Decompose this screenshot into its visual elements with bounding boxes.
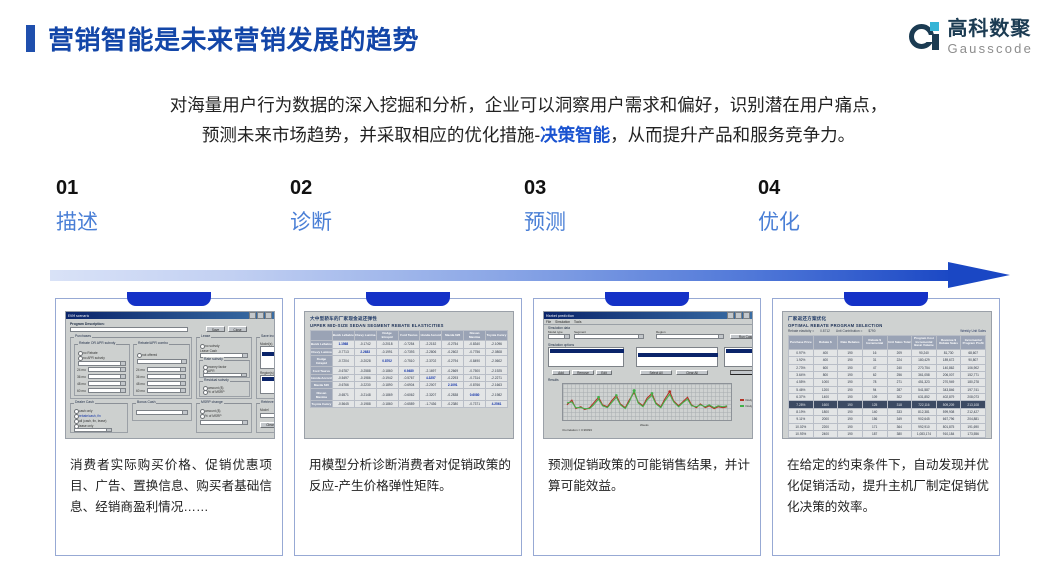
cell: 1,173,409: [912, 438, 937, 439]
cell: 4.55%: [789, 379, 814, 386]
radio-label: amount ($): [205, 409, 220, 413]
cell: 190: [838, 438, 863, 439]
row-header: Mazda 626: [311, 382, 333, 389]
elasticity-table: Buick LeSabre Chevy Lumina Dodge Intrepi…: [310, 330, 508, 408]
select-combo-36[interactable]: [147, 374, 186, 379]
arrow-shaft: [50, 270, 955, 281]
list-selected-item: [726, 349, 754, 353]
group-bonus-cash: Bonus Cash: [132, 403, 192, 421]
card-tab: [366, 292, 450, 306]
cell: 4.3257: [420, 374, 442, 381]
radio-label: cash only: [79, 409, 92, 413]
cell: 2.2683: [354, 348, 376, 355]
list-models[interactable]: [260, 346, 275, 369]
list-regions[interactable]: [260, 375, 275, 394]
clear-button[interactable]: Clear: [260, 422, 275, 428]
col-header: Purchase Price: [789, 336, 814, 350]
cell: 302: [887, 394, 912, 401]
step-number: 02: [290, 176, 524, 200]
cell: 173,556: [961, 430, 986, 437]
legend-swatch: [740, 405, 744, 408]
label-program-description: Program Description:: [70, 322, 105, 326]
cell: 812,381: [912, 408, 937, 415]
run-case-button[interactable]: Run Case: [730, 334, 753, 339]
cell: 204,881: [961, 416, 986, 423]
cell: -0.7371: [464, 400, 486, 407]
table-row: Nissan Maxima -0.6571 -0.2148 -0.1869 -0…: [311, 389, 508, 400]
cell: -0.7254: [398, 341, 420, 348]
cell: -2.0602: [486, 355, 508, 366]
select-bonus-cash[interactable]: [136, 410, 188, 415]
cell: 9.11%: [789, 416, 814, 423]
cell: 2000: [813, 416, 838, 423]
cell: 190: [838, 379, 863, 386]
cell: 667,796: [936, 416, 961, 423]
select-rebate-amount[interactable]: [78, 361, 126, 366]
chart-footnote: rCorrelation = 0.96093: [562, 428, 592, 432]
step-01: 01 描述: [56, 176, 290, 238]
cell: -2.2007: [420, 382, 442, 389]
cell: -0.7314: [464, 374, 486, 381]
radio-label: not offered: [142, 353, 157, 357]
select-model-type[interactable]: [548, 334, 570, 339]
cell: -0.7500: [464, 367, 486, 374]
menu-file[interactable]: File: [546, 320, 551, 324]
step-label: 预测: [524, 208, 758, 238]
cell: 451,323: [912, 379, 937, 386]
table-row: 6.37%1400190109302631,852402,879208,073: [789, 394, 986, 401]
card-screenshot-optimal: 厂家返还方案优化 OPTIMAL REBATE PROGRAM SELECTIO…: [782, 311, 992, 439]
group-title: Retrieve incentives: [260, 400, 275, 404]
select-region[interactable]: [656, 334, 724, 339]
table-row: Honda Accord -0.5497 -0.1986 -0.1942 -0.…: [311, 374, 508, 381]
title-accent-bar: [26, 25, 35, 52]
col-header: Program Cost Incremental Basic Volume: [912, 336, 937, 350]
table-header-row: Purchase Price Rebate $ Rate Rebates Reb…: [789, 336, 986, 350]
subtitle-elasticity-label: Rebate elasticity =: [788, 329, 814, 333]
cell: -2.1096: [486, 341, 508, 348]
intro-line-2-before: 预测未来市场趋势，并采取相应的优化措施-: [202, 125, 540, 145]
cell: -2.2806: [420, 348, 442, 355]
cell: 68,607: [961, 349, 986, 356]
list-selected-item: [262, 352, 276, 356]
chart-series: [563, 384, 731, 420]
cell: -0.2588: [354, 367, 376, 374]
window-buttons: [249, 312, 272, 319]
cell: 2.73%: [789, 364, 814, 371]
cell: 187: [862, 430, 887, 437]
cell: -0.7713: [332, 348, 354, 355]
cell: 349: [887, 416, 912, 423]
cell: -0.8490: [464, 355, 486, 366]
list-models[interactable]: [636, 347, 718, 367]
cell: -0.2230: [354, 382, 376, 389]
cell: 4.2561: [486, 400, 508, 407]
cell: 10.93%: [789, 430, 814, 437]
group-lease: Lease no subvdy Lease Cash Rate subvdy m…: [196, 337, 252, 399]
page-title: 营销智能是未来营销发展的趋势: [26, 20, 419, 57]
row-header: Nissan Maxima: [311, 389, 333, 400]
cell: 801,875: [936, 423, 961, 430]
cell: 3.64%: [789, 371, 814, 378]
term-label: 60 mo: [77, 389, 86, 393]
cell: 380: [887, 430, 912, 437]
list-metrics[interactable]: [724, 347, 753, 367]
group-title: Lease: [200, 334, 211, 338]
cell: 631,852: [912, 394, 937, 401]
menu-simulation[interactable]: Simulation: [555, 320, 570, 324]
select-retrieve-model[interactable]: [260, 413, 275, 418]
cell: -0.2028: [354, 355, 376, 366]
step-02: 02 诊断: [290, 176, 524, 238]
cell: 90,240: [912, 349, 937, 356]
table-row: Buick LeSabre 1.1568 -0.1742 -0.2018 -0.…: [311, 341, 508, 348]
cell: -0.1860: [376, 367, 398, 374]
radio-label: no APR subvdy: [83, 356, 105, 360]
cell: 11.84%: [789, 438, 814, 439]
cell: 208,073: [961, 394, 986, 401]
cell: 5.46%: [789, 386, 814, 393]
card-caption: 在给定的约束条件下，自动发现并优化促销活动，提升主机厂制定促销优化决策的效率。: [787, 455, 989, 518]
list-selected-item: [262, 377, 276, 381]
remove-button[interactable]: Remove: [572, 370, 594, 375]
cell: 106,902: [961, 364, 986, 371]
cell: -2.1925: [486, 367, 508, 374]
intro-highlight: 决策智能: [540, 125, 610, 145]
cell: 1000: [813, 379, 838, 386]
table-row: 1.92%40019031224180,429189,67290,807: [789, 357, 986, 364]
radio-label: no subvdy: [205, 344, 220, 348]
card-screenshot-elasticity: 大中型轿车的厂家现金返还弹性 UPPER MID-SIZE SEDAN SEGM…: [304, 311, 514, 439]
col-header: Buick LeSabre: [332, 331, 354, 341]
cell: 271: [887, 379, 912, 386]
optimal-rebate-table: Purchase Price Rebate $ Rate Rebates Reb…: [788, 335, 986, 439]
cell: -0.1742: [354, 341, 376, 348]
select-term-24[interactable]: [88, 367, 126, 372]
group-save-incentives: Save incentives Model(s) Select All Clea…: [256, 337, 275, 399]
cell: 1600: [813, 401, 838, 408]
step-headings: 01 描述 02 诊断 03 预测 04 优化: [56, 176, 996, 238]
step-number: 01: [56, 176, 290, 200]
cell: -0.5645: [332, 400, 354, 407]
select-term-36[interactable]: [88, 374, 126, 379]
cell: -0.1991: [376, 348, 398, 355]
cell: 0.6080: [464, 389, 486, 400]
input-program-description[interactable]: [70, 327, 188, 332]
cell: 109: [862, 394, 887, 401]
cell: 722,116: [912, 401, 937, 408]
legend-label: Dodge Dakota actual: [746, 404, 754, 408]
table-title-en: OPTIMAL REBATE PROGRAM SELECTION: [788, 323, 986, 328]
cell: -2.3702: [420, 355, 442, 366]
subtitle-elasticity-value: 0.8712: [820, 329, 830, 333]
cell: 8.19%: [789, 408, 814, 415]
col-header: Honda Accord: [420, 331, 442, 341]
row-header: Ford Taurus: [311, 367, 333, 374]
col-header: Rebate $: [813, 336, 838, 350]
cell: 190: [838, 401, 863, 408]
cell: 152,771: [961, 371, 986, 378]
cell: -2.0808: [486, 348, 508, 355]
select-all-button[interactable]: Select All: [640, 370, 672, 375]
term-label: 48 mo: [77, 382, 86, 386]
table-row: 9.11%2000190156349902,645667,796204,881: [789, 416, 986, 423]
cell: 62: [862, 371, 887, 378]
cell: -0.2754: [442, 341, 464, 348]
cell: -0.2293: [442, 374, 464, 381]
cell: 270,949: [936, 379, 961, 386]
cell: -0.2838: [442, 389, 464, 400]
table-row: Mazda 626 -0.6766 -0.2230 -0.1890 -0.690…: [311, 382, 508, 389]
cell: -0.7393: [398, 348, 420, 355]
intro-line-2-after: ，从而提升产品和服务竞争力。: [610, 125, 855, 145]
progress-arrow: [50, 262, 1010, 288]
close-button[interactable]: Close: [228, 326, 247, 332]
select-msrp-value[interactable]: [200, 420, 248, 425]
cell: 1,083,174: [912, 430, 937, 437]
cell: -2.1663: [486, 382, 508, 389]
select-combo-24[interactable]: [147, 367, 186, 372]
col-header: Mazda 626: [442, 331, 464, 341]
cell: 396: [887, 438, 912, 439]
clear-all-button[interactable]: Clear All: [676, 370, 708, 375]
chart-xlabel: Weeks: [640, 423, 649, 427]
step-number: 03: [524, 176, 758, 200]
table-row: 11.84%26001902033961,173,4091,028,152149…: [789, 438, 986, 439]
cell: 209: [887, 349, 912, 356]
cell: 1.92%: [789, 357, 814, 364]
cell: -0.2148: [354, 389, 376, 400]
table-row: 5.46%120019094287541,587343,846197,741: [789, 386, 986, 393]
col-header: Dodge Intrepid: [376, 331, 398, 341]
select-rate-value[interactable]: [203, 373, 247, 377]
cell: 541,587: [912, 386, 937, 393]
radio-label: rebate/cash, fin: [79, 414, 101, 418]
step-04: 04 优化: [758, 176, 992, 238]
window-titlebar: Market prediction: [544, 312, 752, 319]
step-label: 诊断: [290, 208, 524, 238]
cell: 224: [887, 357, 912, 364]
cell: 6.37%: [789, 394, 814, 401]
group-rate-subvdy: Rate subvdy money factor APR: [199, 360, 250, 378]
window-title-text: Market prediction: [546, 314, 574, 318]
logo-name-cn: 高科数聚: [947, 19, 1033, 39]
cell: 125: [862, 401, 887, 408]
select-combo-60[interactable]: [147, 388, 186, 393]
radio-label: APR: [208, 369, 215, 373]
select-segment[interactable]: [574, 334, 644, 339]
cell: 1800: [813, 408, 838, 415]
row-header: Chevy Lumina: [311, 348, 333, 355]
cell: 94: [862, 386, 887, 393]
window-buttons: [727, 312, 750, 319]
radio-label: % of MSRP: [205, 414, 221, 418]
group-title: Rebate OR APR subvdy: [78, 341, 116, 345]
term-label: 36 mo: [136, 375, 145, 379]
cell: 213,108: [961, 401, 986, 408]
cell: -0.7756: [464, 348, 486, 355]
card-row: EVM scenario Program Description: Save C…: [55, 298, 1000, 556]
brand-logo: 高科数聚 Gausscode: [909, 19, 1033, 55]
table-row: Chevy Lumina -0.7713 2.2683 -0.1991 -0.7…: [311, 348, 508, 355]
cell: 190: [838, 430, 863, 437]
legend-swatch: [740, 399, 744, 402]
cell: 1200: [813, 386, 838, 393]
cell: 190: [838, 423, 863, 430]
cell: -0.6904: [398, 382, 420, 389]
cell: -0.5497: [332, 374, 354, 381]
select-term-60[interactable]: [88, 388, 126, 393]
cell: -0.1986: [354, 374, 376, 381]
intro-paragraph: 对海量用户行为数据的深入挖掘和分析，企业可以洞察用户需求和偏好，识别潜在用户痛点…: [46, 90, 1011, 150]
cell: 902,645: [912, 416, 937, 423]
group-dealer-cash: Dealer Cash cash only rebate/cash, fin a…: [70, 403, 128, 433]
cell: 800: [813, 371, 838, 378]
optimal-rebate-body: 0.97%4001901620990,24081,73068,607 1.92%…: [789, 349, 986, 439]
group-purchases: Purchases Rebate OR APR subvdy no Rebate…: [70, 337, 192, 399]
group-title: Dealer Cash: [74, 400, 95, 404]
col-header: Unit Sales Total: [887, 336, 912, 350]
cell: 2600: [813, 438, 838, 439]
group-rebate-combo: Rebate/APR combo not offered 24 mo 36 mo…: [133, 344, 190, 396]
cell: 206,007: [936, 371, 961, 378]
cell: -0.8340: [464, 341, 486, 348]
table-row: 0.97%4001901620990,24081,73068,607: [789, 349, 986, 356]
cell: 400: [813, 357, 838, 364]
term-label: 36 mo: [77, 375, 86, 379]
term-label: 60 mo: [136, 389, 145, 393]
select-dealer-cash[interactable]: [74, 428, 112, 432]
cell: 190: [838, 408, 863, 415]
cell: 189,672: [936, 357, 961, 364]
cell: 31: [862, 357, 887, 364]
save-button[interactable]: Save: [206, 326, 225, 332]
list-scenarios[interactable]: [548, 347, 624, 367]
term-label: 48 mo: [136, 382, 145, 386]
logo-name-en: Gausscode: [947, 42, 1033, 55]
step-label: 描述: [56, 208, 290, 238]
cell: -0.2380: [442, 400, 464, 407]
table-row-highlighted: 7.28%1600190125318722,116509,209213,108: [789, 401, 986, 408]
group-title: Purchases: [74, 334, 92, 338]
card-diagnose[interactable]: 大中型轿车的厂家现金返还弹性 UPPER MID-SIZE SEDAN SEGM…: [294, 298, 522, 556]
cell: -0.5767: [398, 374, 420, 381]
cell: 509,209: [936, 401, 961, 408]
select-combo-amount[interactable]: [137, 359, 187, 364]
group-rebate-apr: Rebate OR APR subvdy no Rebate no APR su…: [74, 344, 130, 396]
step-03: 03 预测: [524, 176, 758, 238]
row-header: Buick LeSabre: [311, 341, 333, 348]
card-tab: [844, 292, 928, 306]
cell: -0.8766: [464, 382, 486, 389]
radio-label: % of MSRP: [208, 390, 224, 394]
cell: 0.97%: [789, 349, 814, 356]
radio-label: all (cash, fin, lease): [79, 419, 106, 423]
cell: 2.1091: [442, 382, 464, 389]
slide-header: 营销智能是未来营销发展的趋势 高科数聚 Gausscode: [0, 0, 1051, 72]
cell: 318: [887, 401, 912, 408]
cell: 149,704: [961, 438, 986, 439]
group-title: Residual subvdy: [203, 378, 230, 382]
cell: 343,846: [936, 386, 961, 393]
cell: -0.7510: [398, 355, 420, 366]
table-row: 10.02%2200190171364992,910801,875191,690: [789, 423, 986, 430]
cell: 90,807: [961, 357, 986, 364]
table-header-row: Buick LeSabre Chevy Lumina Dodge Intrepi…: [311, 331, 508, 341]
cell: 1400: [813, 394, 838, 401]
card-predict[interactable]: Market prediction File Simulation Tools …: [533, 298, 761, 556]
cell: -0.2669: [442, 367, 464, 374]
prediction-chart: [562, 383, 732, 421]
select-combo-48[interactable]: [147, 381, 186, 386]
col-header: Ford Taurus: [398, 331, 420, 341]
row-header: Dodge Intrepid: [311, 355, 333, 366]
cell: -2.2271: [486, 374, 508, 381]
cell: 0.8702: [376, 355, 398, 366]
subtitle-contribution-value: $790: [868, 329, 875, 333]
menu-bar[interactable]: File Simulation Tools: [544, 319, 752, 325]
cell: 6.9480: [398, 367, 420, 374]
cell: 1,028,152: [936, 438, 961, 439]
graph-button[interactable]: Graph: [730, 370, 753, 375]
radio-label: lease only: [79, 424, 93, 428]
cell: 47: [862, 364, 887, 371]
add-button[interactable]: Add: [552, 370, 570, 375]
cell: 190: [838, 394, 863, 401]
window-titlebar: EVM scenario: [66, 312, 274, 319]
card-caption: 用模型分析诊断消费者对促销政策的反应-产生价格弹性矩阵。: [309, 455, 511, 497]
row-header: Honda Accord: [311, 374, 333, 381]
col-header: Nissan Maxima: [464, 331, 486, 341]
cell: -0.1860: [376, 400, 398, 407]
radio-label: no Rebate: [83, 351, 98, 355]
logo-bar-shape: [932, 34, 939, 50]
select-term-48[interactable]: [88, 381, 126, 386]
cell: 190: [838, 349, 863, 356]
cell: -1.7436: [420, 400, 442, 407]
group-retrieve-incentives: Retrieve incentives Model Region Clear R…: [256, 403, 275, 433]
cell: 10.02%: [789, 423, 814, 430]
cell: 400: [813, 349, 838, 356]
table-row: 4.55%100019078271451,323270,949180,278: [789, 379, 986, 386]
list-selected-item: [638, 353, 718, 357]
cell: -0.7204: [332, 355, 354, 366]
cell: -0.6589: [398, 400, 420, 407]
card-tab: [127, 292, 211, 306]
cell: -0.6571: [332, 389, 354, 400]
cell: -0.2602: [442, 348, 464, 355]
cell: 81,730: [936, 349, 961, 356]
corner-note: Weekly Unit Sales: [960, 329, 986, 333]
cell: 180,278: [961, 379, 986, 386]
card-caption: 消费者实际购买价格、促销优惠项目、广告、置换信息、购买者基础信息、经销商盈利情况…: [70, 455, 272, 518]
edit-button[interactable]: Edit: [596, 370, 612, 375]
table-title-en: UPPER MID-SIZE SEDAN SEGMENT REBATE ELAS…: [310, 323, 508, 328]
step-number: 04: [758, 176, 992, 200]
table-title-cn: 厂家返还方案优化: [788, 316, 986, 322]
cell: -0.6062: [398, 389, 420, 400]
group-title: MSRP change: [200, 400, 224, 404]
col-header: Revenue $ Rebate Sales: [936, 336, 961, 350]
intro-line-1: 对海量用户行为数据的深入挖掘和分析，企业可以洞察用户需求和偏好，识别潜在用户痛点…: [170, 95, 888, 115]
group-title: Bonus Cash: [136, 400, 156, 404]
label-results: Results: [548, 378, 559, 382]
menu-tools[interactable]: Tools: [574, 320, 581, 324]
card-describe[interactable]: EVM scenario Program Description: Save C…: [55, 298, 283, 556]
cell: 256: [887, 371, 912, 378]
step-label: 优化: [758, 208, 992, 238]
card-optimize[interactable]: 厂家返还方案优化 OPTIMAL REBATE PROGRAM SELECTIO…: [772, 298, 1000, 556]
